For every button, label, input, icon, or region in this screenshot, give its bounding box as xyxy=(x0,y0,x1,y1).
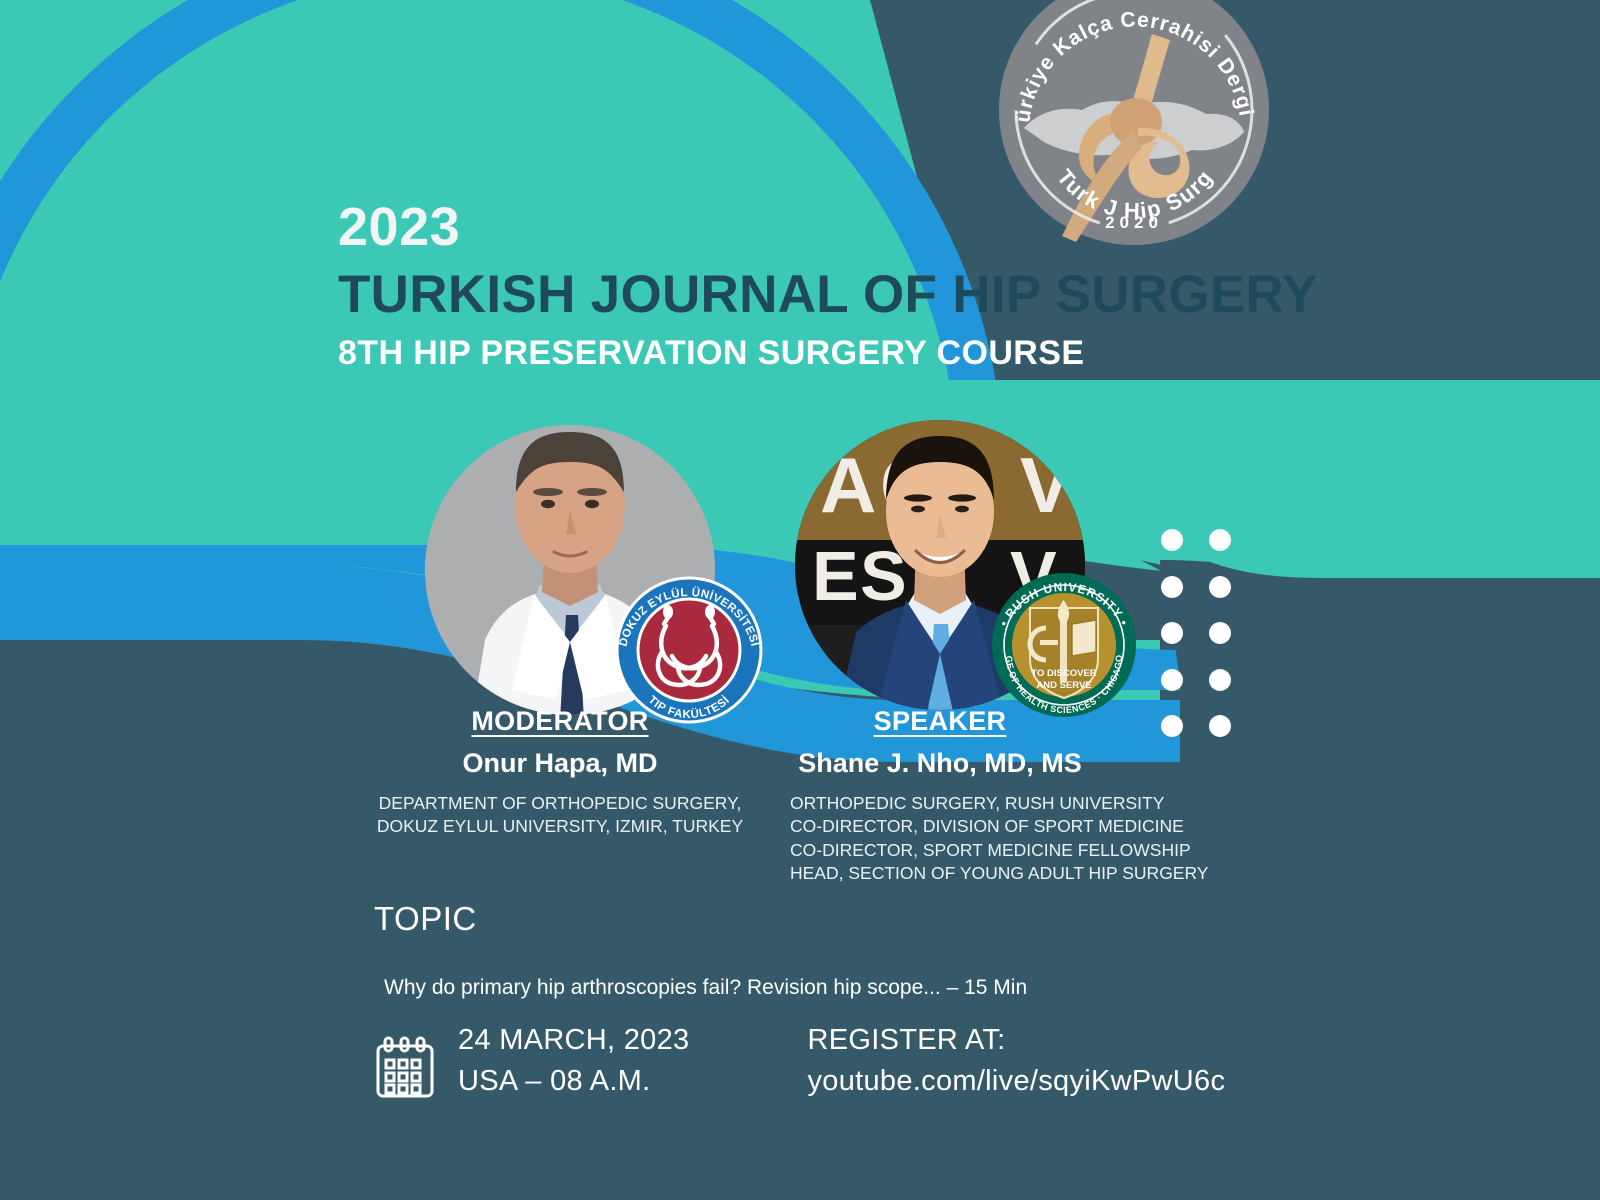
speaker-role-label: SPEAKER xyxy=(874,706,1007,737)
moderator-affiliation: DEPARTMENT OF ORTHOPEDIC SURGERY, DOKUZ … xyxy=(330,792,790,839)
moderator-affiliation-line: DOKUZ EYLUL UNIVERSITY, IZMIR, TURKEY xyxy=(330,815,790,838)
topic-block: TOPIC Why do primary hip arthroscopies f… xyxy=(374,900,1027,1000)
date-time-column: 24 MARCH, 2023 USA – 08 A.M. xyxy=(458,1020,689,1102)
moderator-affiliation-line: DEPARTMENT OF ORTHOPEDIC SURGERY, xyxy=(330,792,790,815)
footer-block: 24 MARCH, 2023 USA – 08 A.M. REGISTER AT… xyxy=(374,1020,1225,1102)
speaker-affiliation-line: CO-DIRECTOR, DIVISION OF SPORT MEDICINE xyxy=(790,815,1180,838)
topic-text: Why do primary hip arthroscopies fail? R… xyxy=(374,976,1027,1000)
speaker-affiliation-line: CO-DIRECTOR, SPORT MEDICINE FELLOWSHIP xyxy=(790,839,1180,862)
event-subtitle: 8TH HIP PRESERVATION SURGERY COURSE xyxy=(338,336,1338,370)
event-date: 24 MARCH, 2023 xyxy=(458,1020,689,1061)
registration-column: REGISTER AT: youtube.com/live/sqyiKwPwU6… xyxy=(807,1020,1225,1102)
speaker-affiliation: ORTHOPEDIC SURGERY, RUSH UNIVERSITY CO-D… xyxy=(790,792,1180,886)
page-title: TURKISH JOURNAL OF HIP SURGERY xyxy=(338,268,1338,322)
teal-right-panel xyxy=(1140,380,1600,578)
register-label: REGISTER AT: xyxy=(807,1020,1225,1061)
event-time: USA – 08 A.M. xyxy=(458,1061,689,1102)
event-poster: A C V E S V xyxy=(0,0,1600,1200)
poster-header: 2023 TURKISH JOURNAL OF HIP SURGERY 8TH … xyxy=(338,200,1338,370)
moderator-role-label: MODERATOR xyxy=(471,706,648,737)
register-url[interactable]: youtube.com/live/sqyiKwPwU6c xyxy=(807,1061,1225,1102)
rush-motto-line1: TO DISCOVER xyxy=(1031,668,1096,679)
dokuz-eylul-seal: DOKUZ EYLÜL ÜNİVERSİTESİ TIP FAKÜLTESİ xyxy=(617,578,761,722)
rush-motto-line2: AND SERVE xyxy=(1036,680,1091,691)
moderator-name: Onur Hapa, MD xyxy=(330,749,790,779)
topic-label: TOPIC xyxy=(374,900,1027,938)
speaker-affiliation-line: ORTHOPEDIC SURGERY, RUSH UNIVERSITY xyxy=(790,792,1180,815)
speaker-affiliation-line: HEAD, SECTION OF YOUNG ADULT HIP SURGERY xyxy=(790,862,1180,885)
speaker-block: SPEAKER Shane J. Nho, MD, MS ORTHOPEDIC … xyxy=(790,706,1180,885)
calendar-icon xyxy=(374,1034,436,1100)
speaker-name: Shane J. Nho, MD, MS xyxy=(790,749,1090,779)
moderator-block: MODERATOR Onur Hapa, MD DEPARTMENT OF OR… xyxy=(330,706,790,839)
svg-text:E: E xyxy=(812,537,859,615)
event-year: 2023 xyxy=(338,200,1338,254)
